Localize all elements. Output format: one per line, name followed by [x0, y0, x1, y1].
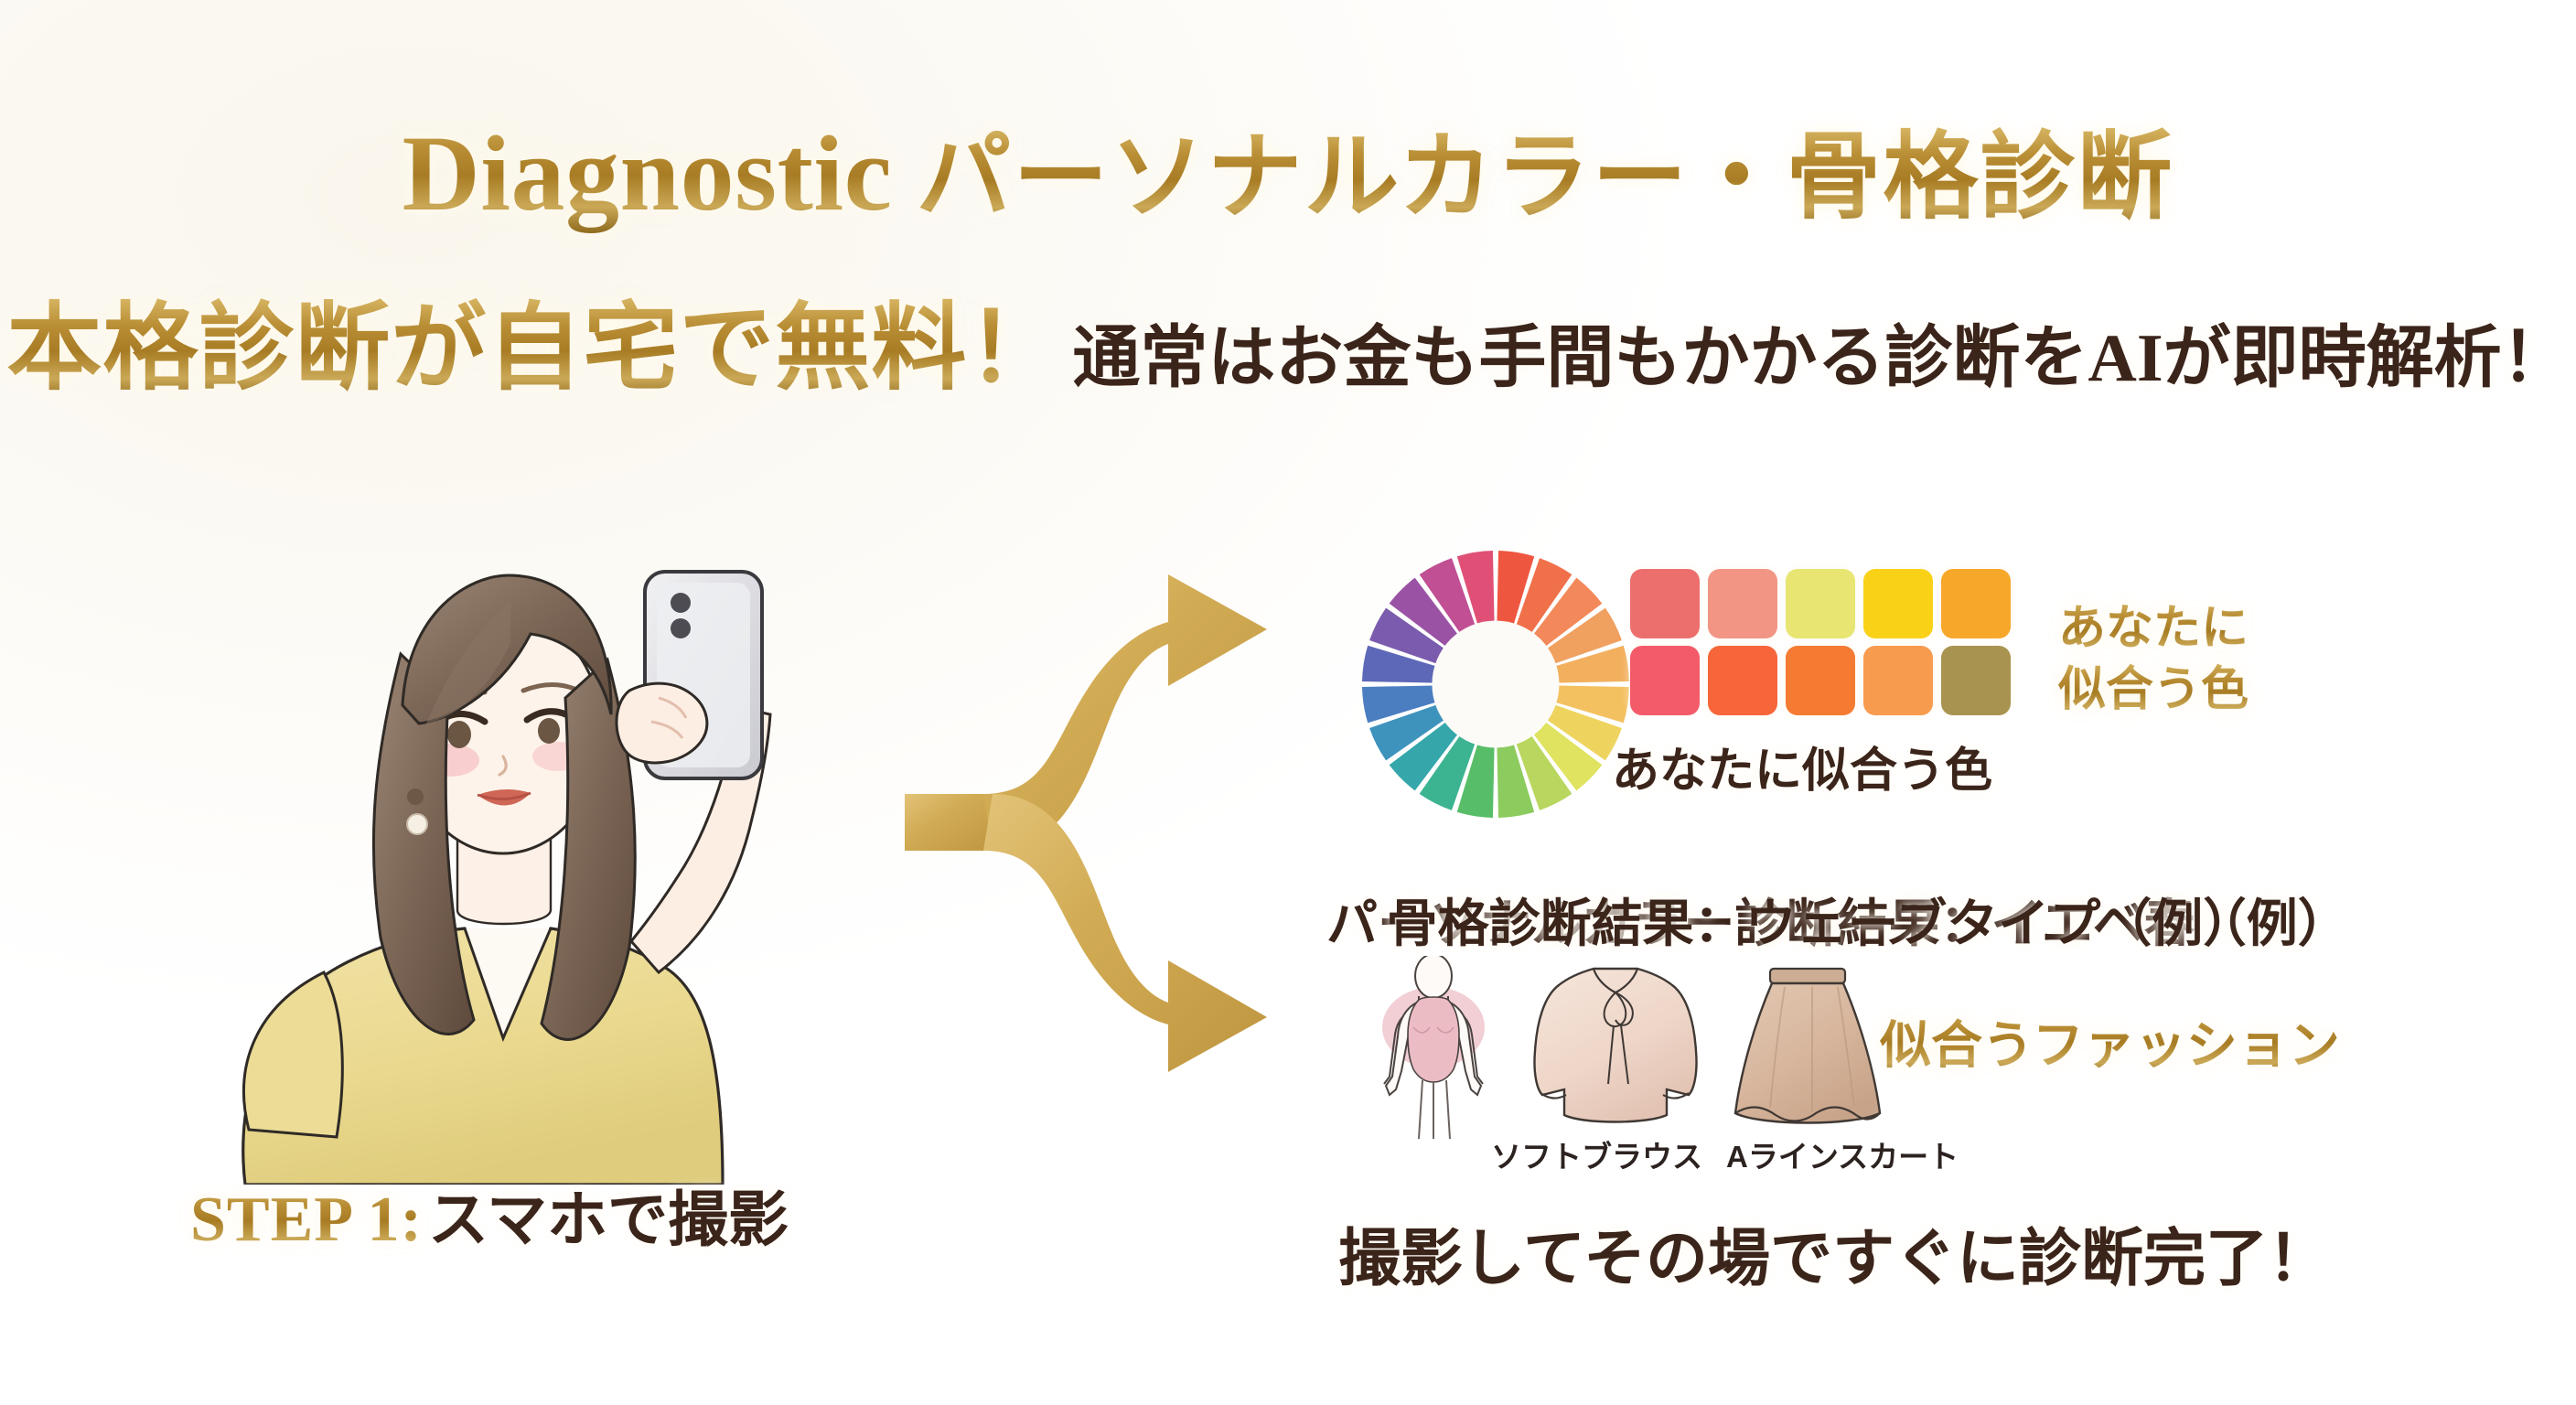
color-swatch	[1708, 569, 1777, 638]
step-1-caption: STEP 1:スマホで撮影	[0, 1185, 979, 1255]
label-a-line-skirt: Aラインスカート	[1726, 1132, 1959, 1176]
subtitle: 本格診断が自宅で無料！通常はお金も手間もかかる診断をAIが即時解析！	[0, 293, 2576, 407]
side-caption-line-2: 似合う色	[2058, 660, 2360, 722]
personal-color-side-caption: あなたに 似合う色	[2058, 599, 2360, 721]
woman-selfie-illustration	[229, 544, 796, 1185]
color-swatch	[1786, 569, 1855, 638]
side-caption-line-1: あなたに	[2058, 599, 2360, 660]
step-1-text: スマホで撮影	[428, 1187, 789, 1254]
color-swatch	[1863, 569, 1933, 638]
forked-gold-arrow-icon	[874, 549, 1304, 1098]
bone-structure-side-caption: 似合うファッション	[1880, 1004, 2374, 1078]
color-swatch	[1630, 646, 1700, 715]
page-title: Diagnosticパーソナルカラー・骨格診断	[0, 110, 2576, 237]
color-swatch	[1863, 646, 1933, 715]
title-english: Diagnostic	[402, 113, 893, 233]
color-swatch	[1708, 646, 1777, 715]
subtitle-main: 本格診断が自宅で無料！	[6, 296, 1063, 402]
personal-color-caption: あなたに似合う色	[1555, 732, 2049, 800]
fashion-figure-row	[1368, 956, 1953, 1139]
bone-structure-heading: 骨格診断結果：ウェーブタイプ（例）	[1326, 883, 2314, 957]
color-swatch	[1941, 569, 2011, 638]
body-type-figure-icon	[1368, 956, 1500, 1139]
bone-structure-footer: 撮影してその場ですぐに診断完了！	[1326, 1207, 2342, 1298]
color-swatch	[1786, 646, 1855, 715]
poster-canvas: Diagnosticパーソナルカラー・骨格診断 本格診断が自宅で無料！通常はお金…	[0, 0, 2576, 1405]
title-japanese: パーソナルカラー・骨格診断	[917, 125, 2174, 231]
color-swatch	[1941, 646, 2011, 715]
soft-blouse-icon	[1528, 956, 1701, 1134]
a-line-skirt-icon	[1724, 956, 1889, 1130]
label-soft-blouse: ソフトブラウス	[1491, 1132, 1702, 1176]
fashion-figure-labels: ソフトブラウスAラインスカート	[1491, 1132, 1967, 1176]
step-1-label: STEP 1:	[190, 1185, 423, 1255]
color-swatch	[1630, 569, 1700, 638]
color-wheel-center	[1432, 620, 1559, 747]
color-swatch-grid	[1630, 569, 2011, 715]
subtitle-sub: 通常はお金も手間もかかる診断をAIが即時解析！	[1072, 321, 2569, 396]
